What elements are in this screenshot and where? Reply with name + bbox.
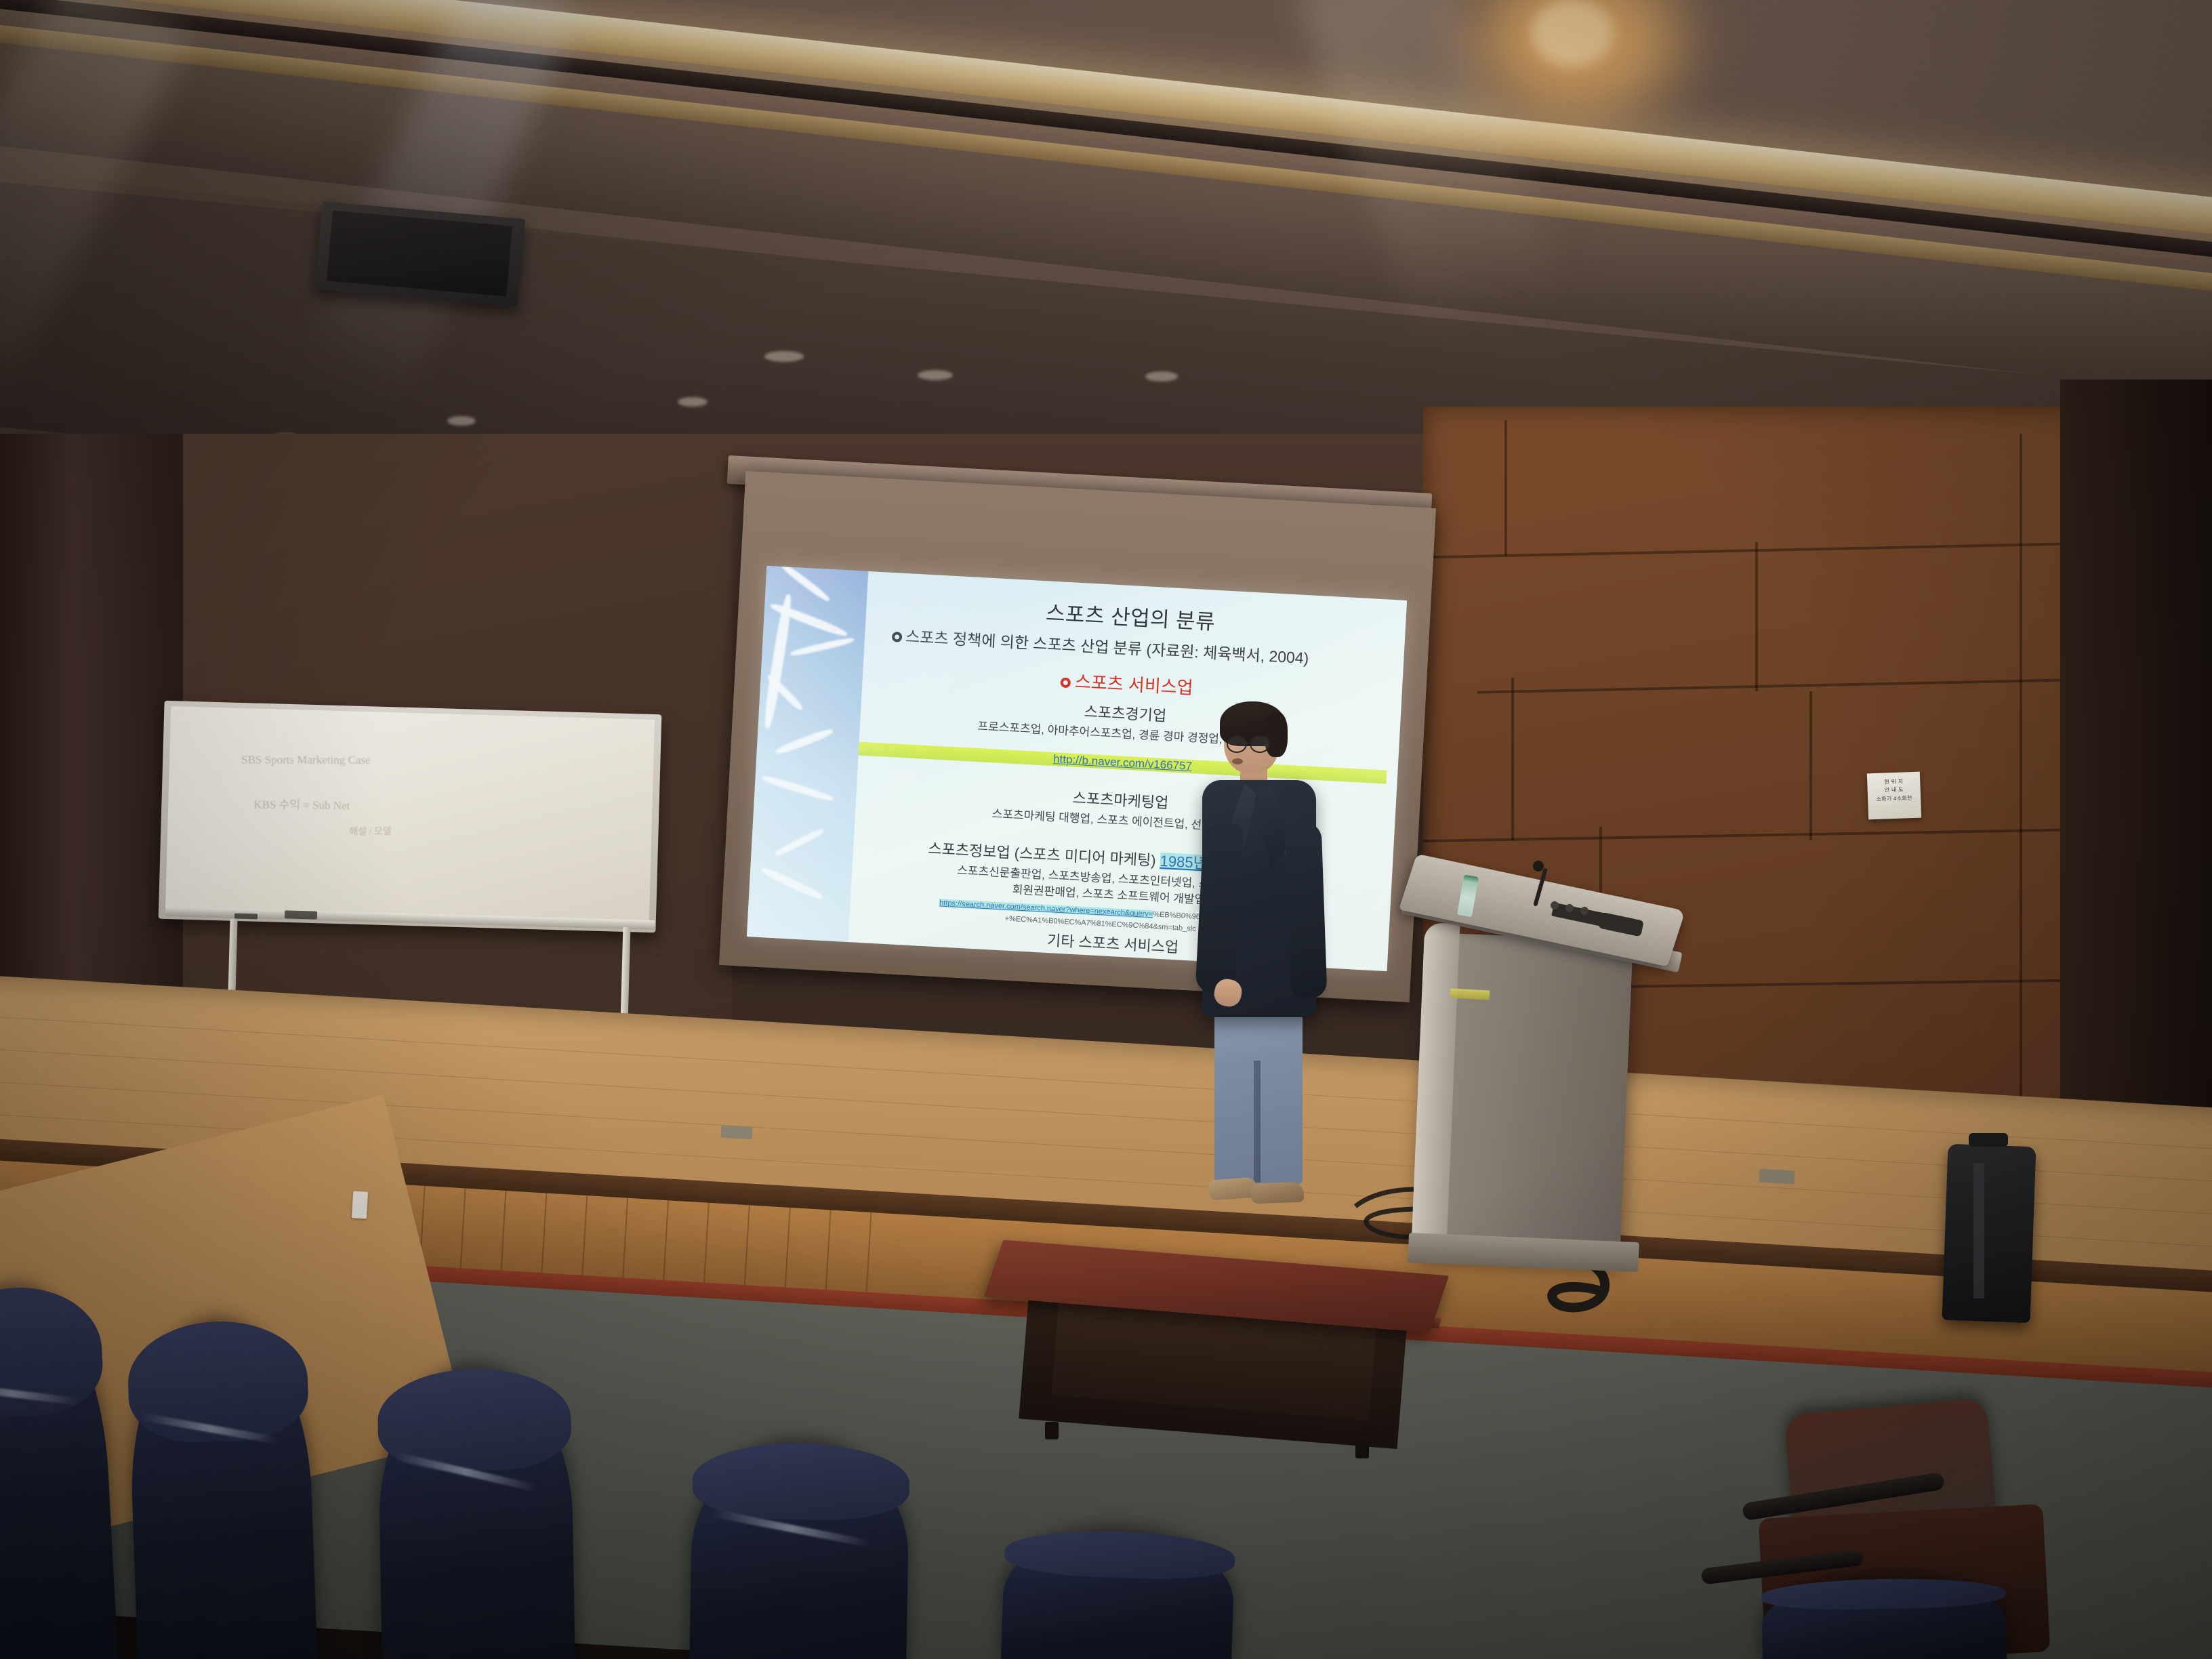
lecture-hall-photo: 현 위 치 안 내 도 소화기 4소화전 스포츠 산업의 분류 스포츠 정책에 … [0,0,2212,1659]
recessed-downlight [447,416,476,426]
whiteboard-surface[interactable]: SBS Sports Marketing Case KBS 수익 = Sub N… [165,706,655,922]
presenter-shoe-right [1251,1182,1305,1204]
floor-plate [1759,1168,1795,1184]
lectern-label-sticker [1450,988,1490,1000]
auditorium-seat[interactable] [0,1284,118,1659]
presenter-mouth [1232,758,1243,764]
wall-sign: 현 위 치 안 내 도 소화기 4소화전 [1867,772,1921,820]
slide-section-heading: 스포츠 서비스업 [1074,672,1193,698]
lectern-knob[interactable] [1565,904,1574,912]
recessed-downlight [1145,371,1178,382]
presenter-arm-right [1284,821,1327,999]
auditorium-seat[interactable] [126,1319,318,1659]
presenter-leg-gap [1254,1061,1261,1183]
auditorium-seat[interactable] [689,1441,910,1659]
wood-panel-seam [1755,542,1758,691]
backpack-handle[interactable] [1969,1133,2008,1147]
recessed-downlight [764,351,804,362]
microphone-icon[interactable] [1533,861,1544,872]
wall-sign-line-3: 소화기 4소화전 [1870,794,1918,804]
glasses-icon [1250,735,1270,753]
lectern-knob[interactable] [1551,901,1559,909]
lectern-knob[interactable] [1580,907,1589,915]
auditorium-seat[interactable] [1761,1577,2007,1659]
recessed-downlight [918,370,953,380]
wood-panel-seam [1809,691,1812,840]
black-backpack[interactable] [1942,1144,2036,1323]
presenter [1164,708,1320,1210]
table-caster-left [1045,1422,1059,1439]
presenter-hair-side [1265,712,1288,757]
whiteboard-eraser[interactable] [285,910,317,919]
auditorium-seat[interactable] [1001,1528,1236,1659]
wood-panel-seam [1511,678,1514,840]
table-caster-right [1355,1441,1369,1458]
wood-panel-seam [1504,420,1507,556]
bullet-ring-red-icon [1061,678,1071,689]
recessed-downlight [678,397,708,407]
whiteboard-ink-line: SBS Sports Marketing Case [241,754,370,767]
ceiling-light-warm [1532,0,1613,66]
whiteboard-ink-line: KBS 수익 = Sub Net [253,795,350,813]
glasses-bridge [1246,742,1252,744]
glasses-icon [1227,735,1247,753]
whiteboard-marker[interactable] [234,914,258,920]
backpack-strap [1973,1163,1984,1298]
whiteboard-ink-line: 해설 / 모델 [349,824,392,838]
bullet-ring-icon [892,632,903,642]
wall-outlet[interactable] [352,1191,368,1218]
auditorium-seat[interactable] [377,1368,575,1659]
floor-plate [721,1126,753,1140]
